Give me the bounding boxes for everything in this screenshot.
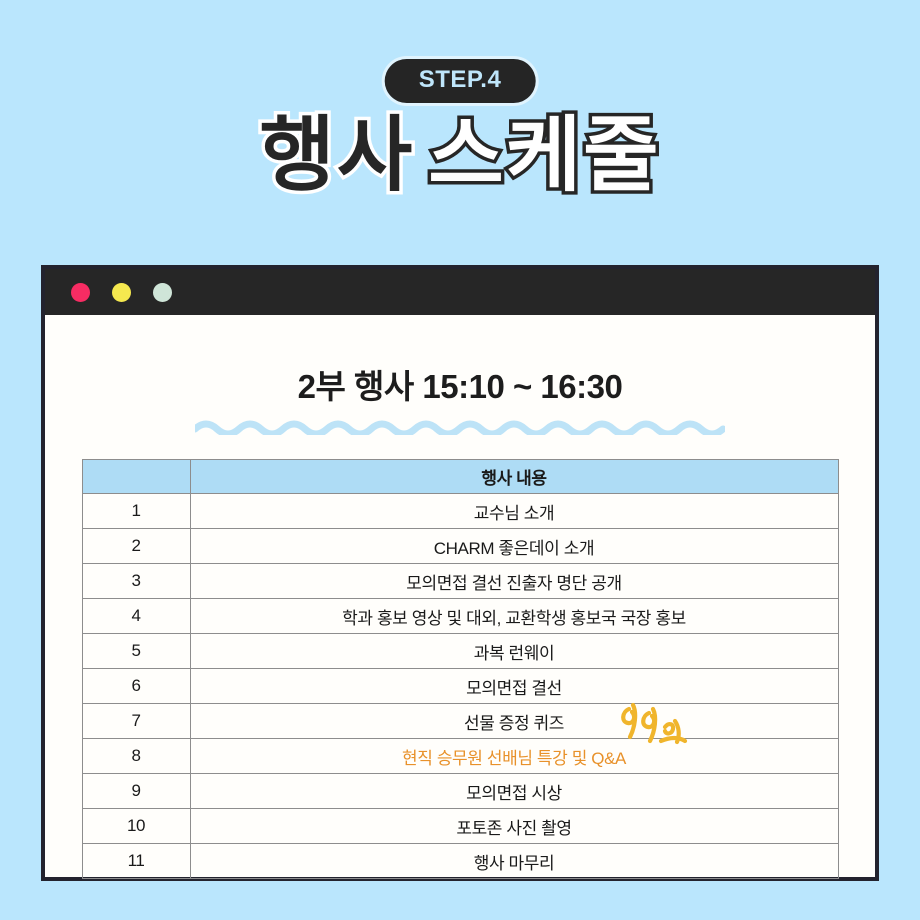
- table-row: 1교수님 소개: [82, 494, 838, 529]
- row-content: 선물 증정 퀴즈: [190, 704, 838, 739]
- page-title-part-2: 스케줄: [428, 110, 660, 201]
- row-number: 6: [82, 669, 190, 704]
- section-heading: 2부 행사 15:10 ~ 16:30: [45, 315, 875, 408]
- row-content: 학과 홍보 영상 및 대외, 교환학생 홍보국 국장 홍보: [190, 599, 838, 634]
- row-content: 현직 승무원 선배님 특강 및 Q&A: [190, 739, 838, 774]
- table-row: 10포토존 사진 촬영: [82, 809, 838, 844]
- window-titlebar: [45, 269, 875, 315]
- row-number: 2: [82, 529, 190, 564]
- row-content: 교수님 소개: [190, 494, 838, 529]
- browser-window: 2부 행사 15:10 ~ 16:30 행사 내용 1교수님 소개2CHARM …: [41, 265, 879, 881]
- table-row: 11행사 마무리: [82, 844, 838, 879]
- page-title-part-1: 행사: [259, 110, 414, 201]
- table-row: 2CHARM 좋은데이 소개: [82, 529, 838, 564]
- table-header-row: 행사 내용: [82, 460, 838, 494]
- schedule-table: 행사 내용 1교수님 소개2CHARM 좋은데이 소개3모의면접 결선 진출자 …: [82, 459, 839, 879]
- table-row: 4학과 홍보 영상 및 대외, 교환학생 홍보국 국장 홍보: [82, 599, 838, 634]
- step-badge: STEP.4: [385, 59, 536, 103]
- row-content: 과복 런웨이: [190, 634, 838, 669]
- table-row: 6모의면접 결선: [82, 669, 838, 704]
- table-row: 9모의면접 시상: [82, 774, 838, 809]
- row-number: 7: [82, 704, 190, 739]
- table-header: 행사 내용: [82, 460, 838, 494]
- column-header-content: 행사 내용: [190, 460, 838, 494]
- minimize-dot-icon[interactable]: [112, 283, 131, 302]
- row-content: 모의면접 결선: [190, 669, 838, 704]
- row-content: 모의면접 결선 진출자 명단 공개: [190, 564, 838, 599]
- row-number: 1: [82, 494, 190, 529]
- column-header-number: [82, 460, 190, 494]
- table-body: 1교수님 소개2CHARM 좋은데이 소개3모의면접 결선 진출자 명단 공개4…: [82, 494, 838, 879]
- row-number: 4: [82, 599, 190, 634]
- row-content: 포토존 사진 촬영: [190, 809, 838, 844]
- page-title: 행사스케줄: [0, 112, 920, 201]
- wave-underline-icon: [195, 417, 725, 435]
- close-dot-icon[interactable]: [71, 283, 90, 302]
- table-row: 7선물 증정 퀴즈: [82, 704, 838, 739]
- maximize-dot-icon[interactable]: [153, 283, 172, 302]
- row-number: 3: [82, 564, 190, 599]
- table-row: 5과복 런웨이: [82, 634, 838, 669]
- row-content: 행사 마무리: [190, 844, 838, 879]
- row-content: CHARM 좋은데이 소개: [190, 529, 838, 564]
- row-content: 모의면접 시상: [190, 774, 838, 809]
- row-number: 11: [82, 844, 190, 879]
- row-number: 8: [82, 739, 190, 774]
- row-number: 5: [82, 634, 190, 669]
- row-number: 9: [82, 774, 190, 809]
- table-row: 3모의면접 결선 진출자 명단 공개: [82, 564, 838, 599]
- table-row: 8현직 승무원 선배님 특강 및 Q&A: [82, 739, 838, 774]
- schedule-table-wrapper: 행사 내용 1교수님 소개2CHARM 좋은데이 소개3모의면접 결선 진출자 …: [82, 459, 839, 879]
- row-number: 10: [82, 809, 190, 844]
- window-content: 2부 행사 15:10 ~ 16:30 행사 내용 1교수님 소개2CHARM …: [45, 315, 875, 877]
